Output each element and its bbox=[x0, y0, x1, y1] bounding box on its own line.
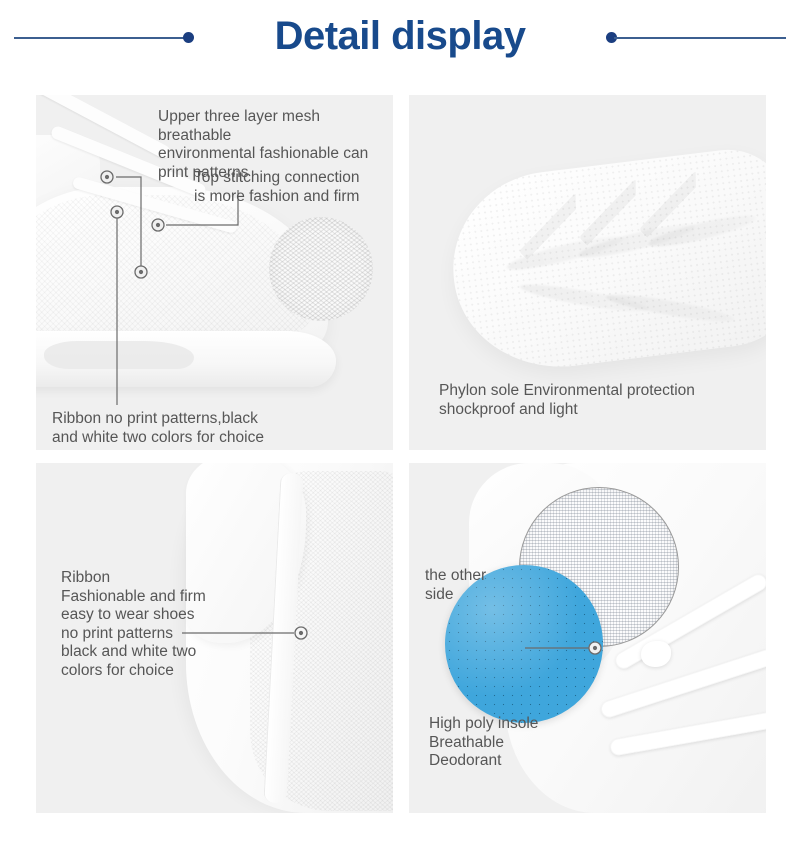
annotation-phylon-sole: Phylon sole Environmental protection sho… bbox=[439, 382, 695, 419]
annotation-other-side: the other side bbox=[425, 567, 486, 604]
panel-phylon-sole: Phylon sole Environmental protection sho… bbox=[409, 95, 766, 450]
page-header: Detail display bbox=[0, 0, 800, 76]
panel-ribbon-collar: Ribbon Fashionable and firm easy to wear… bbox=[36, 463, 393, 813]
annotation-ribbon-print: Ribbon no print patterns,black and white… bbox=[52, 410, 264, 447]
panel-insole: the other side High poly insole Breathab… bbox=[409, 463, 766, 813]
annotation-high-poly-insole: High poly insole Breathable Deodorant bbox=[429, 715, 538, 771]
annotation-ribbon-collar: Ribbon Fashionable and firm easy to wear… bbox=[61, 569, 206, 680]
page-title: Detail display bbox=[0, 10, 800, 62]
annotation-top-stitching: Top stitching connection is more fashion… bbox=[194, 169, 359, 206]
stitching-closeup-circle bbox=[269, 217, 373, 321]
ornament-line-right bbox=[614, 37, 786, 39]
panel-upper-mesh: Upper three layer mesh breathable enviro… bbox=[36, 95, 393, 450]
